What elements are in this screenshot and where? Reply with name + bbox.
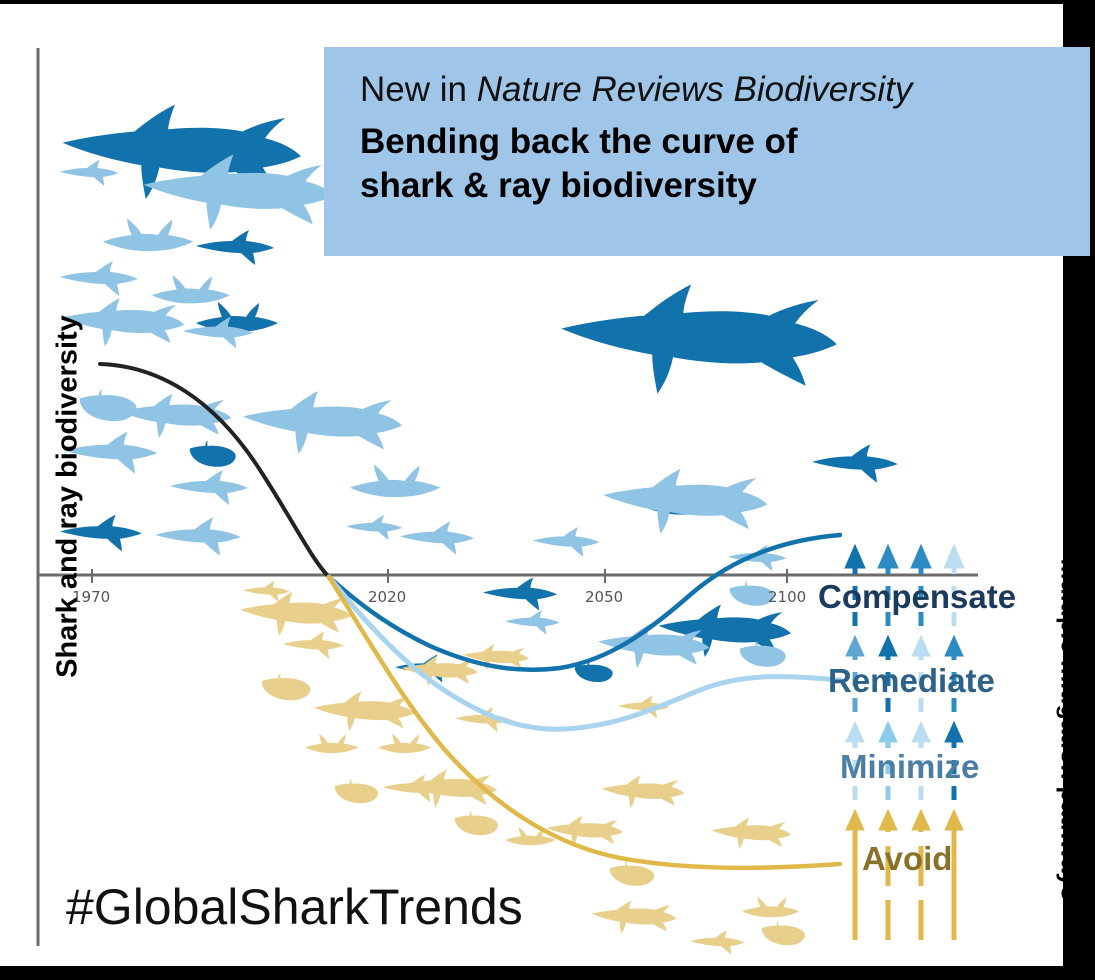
announcement-callout: New in Nature Reviews Biodiversity Bendi… [324,47,1090,256]
pathway-label-remediate: Remediate [828,662,995,700]
y-axis-title: Shark and ray biodiversity [52,287,85,707]
figure-canvas: 1970 2020 2050 2100 Shark and ray biodiv… [0,0,1095,980]
callout-journal-name: Nature Reviews Biodiversity [477,70,913,109]
xtick-2050: 2050 [585,588,623,606]
callout-eyebrow-prefix: New in [360,70,477,109]
capture-border-bottom [0,966,1095,980]
callout-title-line-2: shark & ray biodiversity [360,164,1064,209]
xtick-2020: 2020 [368,588,406,606]
capture-border-top [0,0,1095,4]
right-axis-title: Multiple mitigation pathways [1055,495,1084,965]
hashtag-label: #GlobalSharkTrends [66,878,523,936]
xtick-2100: 2100 [768,588,806,606]
callout-eyebrow: New in Nature Reviews Biodiversity [360,69,1064,112]
pathway-label-compensate: Compensate [818,578,1016,616]
callout-title-line-1: Bending back the curve of [360,120,1064,165]
pathway-label-avoid: Avoid [862,840,952,878]
pathway-label-minimize: Minimize [840,748,979,786]
